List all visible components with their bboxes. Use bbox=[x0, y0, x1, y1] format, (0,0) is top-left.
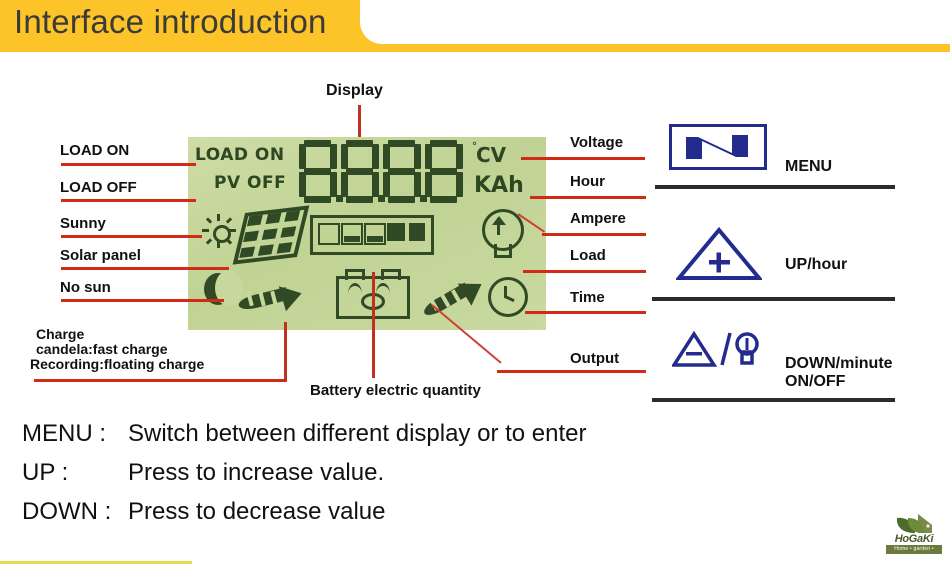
lcd-screen: LOAD ON PV OFF ° CV KAh bbox=[188, 137, 546, 330]
footer-accent-bar bbox=[0, 561, 192, 564]
leader-line-output bbox=[497, 370, 646, 373]
instruction-text-down: Press to decrease value bbox=[128, 498, 385, 526]
header-notch bbox=[360, 0, 950, 44]
label-charge: Charge bbox=[36, 326, 84, 342]
leader-line-voltage bbox=[521, 157, 645, 160]
lcd-digit bbox=[424, 139, 464, 203]
slide-canvas: Interface introduction Display LOAD ON P… bbox=[0, 0, 950, 568]
label-no-sun: No sun bbox=[60, 279, 111, 296]
separator-1 bbox=[655, 185, 895, 189]
label-time: Time bbox=[570, 289, 605, 306]
leader-line-ampere bbox=[542, 233, 646, 236]
solar-panel-icon bbox=[233, 205, 310, 264]
lcd-digit bbox=[382, 139, 422, 203]
charge-arrow-icon bbox=[236, 277, 314, 317]
button-label-down: DOWN/minute bbox=[785, 355, 893, 373]
label-voltage: Voltage bbox=[570, 134, 623, 151]
menu-zigzag-icon[interactable] bbox=[669, 124, 767, 170]
instruction-text-menu: Switch between different display or to e… bbox=[128, 420, 586, 448]
bulb-icon bbox=[480, 209, 524, 261]
label-display: Display bbox=[326, 82, 383, 100]
label-sunny: Sunny bbox=[60, 215, 106, 232]
leader-line-solar-panel bbox=[61, 267, 229, 270]
leader-line-display bbox=[358, 105, 361, 139]
leader-line-battery bbox=[372, 272, 375, 378]
label-hour: Hour bbox=[570, 173, 605, 190]
leader-line-time bbox=[525, 311, 646, 314]
leader-line-charge bbox=[34, 379, 287, 382]
label-solar-panel: Solar panel bbox=[60, 247, 141, 264]
lcd-load-on-text: LOAD ON bbox=[195, 145, 285, 165]
leader-line-sunny bbox=[61, 235, 202, 238]
triangle-plus-icon[interactable] bbox=[676, 227, 762, 281]
label-load-on: LOAD ON bbox=[60, 142, 129, 159]
leader-line-load-off bbox=[61, 199, 196, 202]
brand-logo: HoGaKi Home • garden • kitchen bbox=[884, 512, 944, 558]
instruction-text-up: Press to increase value. bbox=[128, 459, 384, 487]
separator-3 bbox=[652, 398, 895, 402]
leader-line-no-sun bbox=[61, 299, 224, 302]
logo-name: HoGaKi bbox=[884, 533, 944, 545]
menu-zigzag-glyph bbox=[684, 133, 752, 161]
label-charge-recording: Recording:floating charge bbox=[30, 356, 204, 372]
leader-line-load-on bbox=[61, 163, 196, 166]
leader-line-hour bbox=[530, 196, 646, 199]
leaf-house-icon bbox=[892, 512, 936, 534]
instruction-key-menu: MENU : bbox=[22, 420, 106, 448]
lcd-digit bbox=[298, 139, 338, 203]
page-title: Interface introduction bbox=[14, 3, 327, 41]
separator-2 bbox=[652, 297, 895, 301]
lcd-seven-segment-digits bbox=[298, 139, 464, 203]
logo-tagline: Home • garden • kitchen bbox=[886, 545, 942, 554]
button-label-onoff: ON/OFF bbox=[785, 373, 845, 391]
button-label-menu: MENU bbox=[785, 158, 832, 176]
lcd-digit bbox=[340, 139, 380, 203]
label-charge-candela: candela:fast charge bbox=[36, 341, 168, 357]
label-load: Load bbox=[570, 247, 606, 264]
label-ampere: Ampere bbox=[570, 210, 626, 227]
label-load-off: LOAD OFF bbox=[60, 179, 137, 196]
lcd-pv-off-text: PV OFF bbox=[214, 173, 286, 193]
sun-icon bbox=[202, 214, 236, 248]
leader-line-load bbox=[523, 270, 646, 273]
lcd-unit-cv: CV bbox=[476, 143, 506, 167]
clock-icon bbox=[488, 277, 528, 317]
instruction-key-down: DOWN : bbox=[22, 498, 111, 526]
instruction-key-up: UP : bbox=[22, 459, 68, 487]
triangle-minus-bulb-icon[interactable] bbox=[672, 330, 764, 370]
label-output: Output bbox=[570, 350, 619, 367]
label-battery-electric-quantity: Battery electric quantity bbox=[310, 382, 481, 399]
leader-line-charge-vertical bbox=[284, 322, 287, 382]
button-label-up: UP/hour bbox=[785, 256, 847, 274]
lcd-unit-kah: KAh bbox=[474, 173, 524, 198]
battery-level-bar-icon bbox=[310, 215, 434, 255]
